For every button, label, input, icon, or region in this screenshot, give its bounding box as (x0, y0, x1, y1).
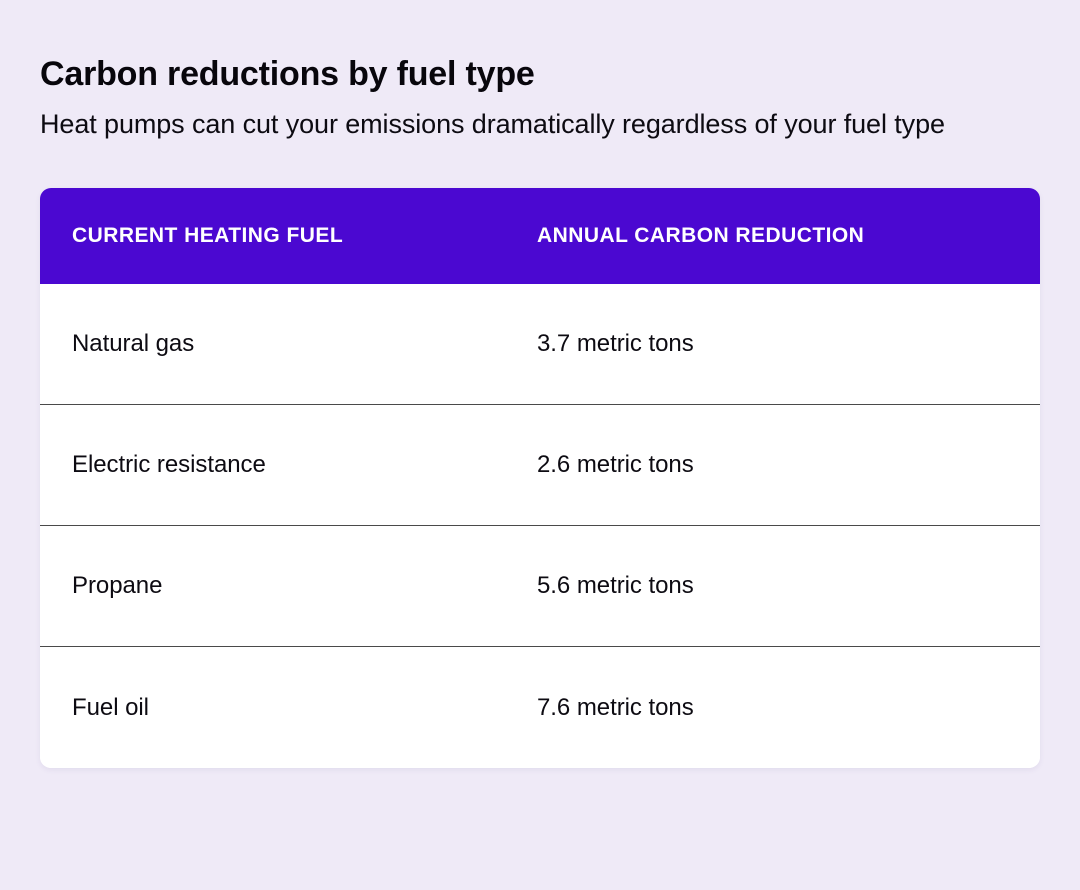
carbon-reduction-table-card: CURRENT HEATING FUEL ANNUAL CARBON REDUC… (40, 188, 1040, 768)
cell-carbon-reduction: 2.6 metric tons (537, 451, 1008, 479)
column-header-current-heating-fuel: CURRENT HEATING FUEL (72, 224, 537, 248)
cell-fuel-type: Fuel oil (72, 694, 537, 722)
table-row: Electric resistance 2.6 metric tons (40, 405, 1040, 526)
table-body: Natural gas 3.7 metric tons Electric res… (40, 284, 1040, 768)
cell-carbon-reduction: 3.7 metric tons (537, 330, 1008, 358)
cell-carbon-reduction: 7.6 metric tons (537, 694, 1008, 722)
table-row: Fuel oil 7.6 metric tons (40, 647, 1040, 768)
heading-block: Carbon reductions by fuel type Heat pump… (40, 0, 1040, 142)
page-container: Carbon reductions by fuel type Heat pump… (0, 0, 1080, 890)
table-header-row: CURRENT HEATING FUEL ANNUAL CARBON REDUC… (40, 188, 1040, 284)
cell-fuel-type: Electric resistance (72, 451, 537, 479)
cell-fuel-type: Propane (72, 572, 537, 600)
page-subtitle: Heat pumps can cut your emissions dramat… (40, 107, 1015, 142)
column-header-annual-carbon-reduction: ANNUAL CARBON REDUCTION (537, 224, 1008, 248)
cell-fuel-type: Natural gas (72, 330, 537, 358)
table-row: Propane 5.6 metric tons (40, 526, 1040, 647)
table-row: Natural gas 3.7 metric tons (40, 284, 1040, 405)
page-title: Carbon reductions by fuel type (40, 54, 1040, 94)
cell-carbon-reduction: 5.6 metric tons (537, 572, 1008, 600)
